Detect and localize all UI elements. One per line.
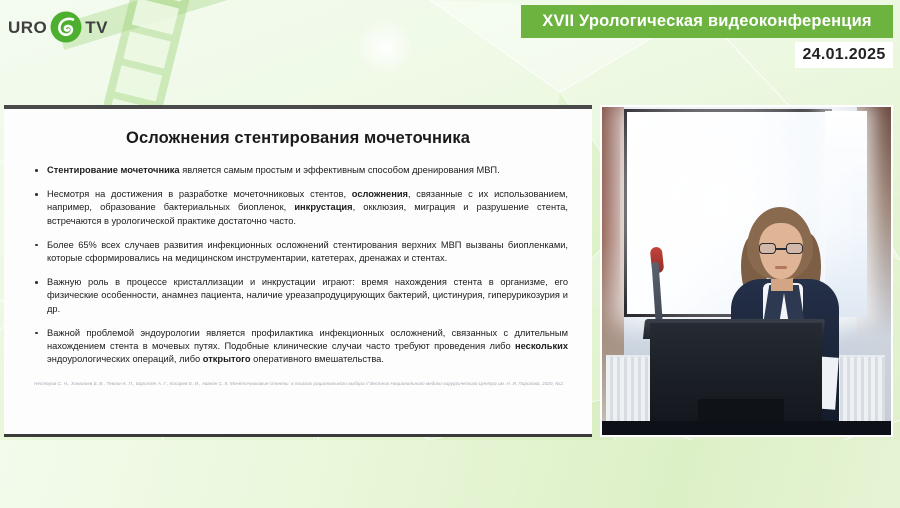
list-item: Важную роль в процессе кристаллизации и … — [32, 276, 568, 316]
list-item: Стентирование мочеточника является самым… — [32, 164, 568, 177]
slide-citation: Нестеров С. Н., Ханалиев Б. В., Тевлин К… — [34, 380, 568, 388]
glow-dot-1 — [355, 18, 415, 78]
slide-bullet-list: Стентирование мочеточника является самым… — [22, 164, 574, 366]
bottom-background-band — [0, 440, 900, 508]
slide-title: Осложнения стентирования мочеточника — [22, 129, 574, 148]
conference-date-text: 24.01.2025 — [802, 46, 885, 64]
speaker-glasses-icon — [759, 243, 803, 254]
uro-tv-leaf-emblem-icon — [49, 10, 83, 44]
list-item: Несмотря на достижения в разработке моче… — [32, 188, 568, 228]
conference-title-text: XVII Урологическая видеоконференция — [542, 12, 872, 31]
logo-prefix-text: URO — [8, 19, 47, 36]
conference-date-box: 24.01.2025 — [795, 42, 893, 68]
logo-suffix-text: TV — [85, 19, 108, 36]
uro-tv-logo: URO TV — [8, 10, 108, 44]
video-floor-shadow — [602, 421, 891, 435]
list-item: Более 65% всех случаев развития инфекцио… — [32, 239, 568, 265]
slide-panel: Осложнения стентирования мочеточника Сте… — [4, 105, 592, 437]
presentation-screen: URO TV XVII Урологическая видеоконференц… — [0, 0, 900, 508]
speaker-video-panel[interactable] — [600, 105, 893, 437]
list-item: Важной проблемой эндоурологии является п… — [32, 327, 568, 367]
conference-title-banner: XVII Урологическая видеоконференция — [521, 5, 893, 38]
